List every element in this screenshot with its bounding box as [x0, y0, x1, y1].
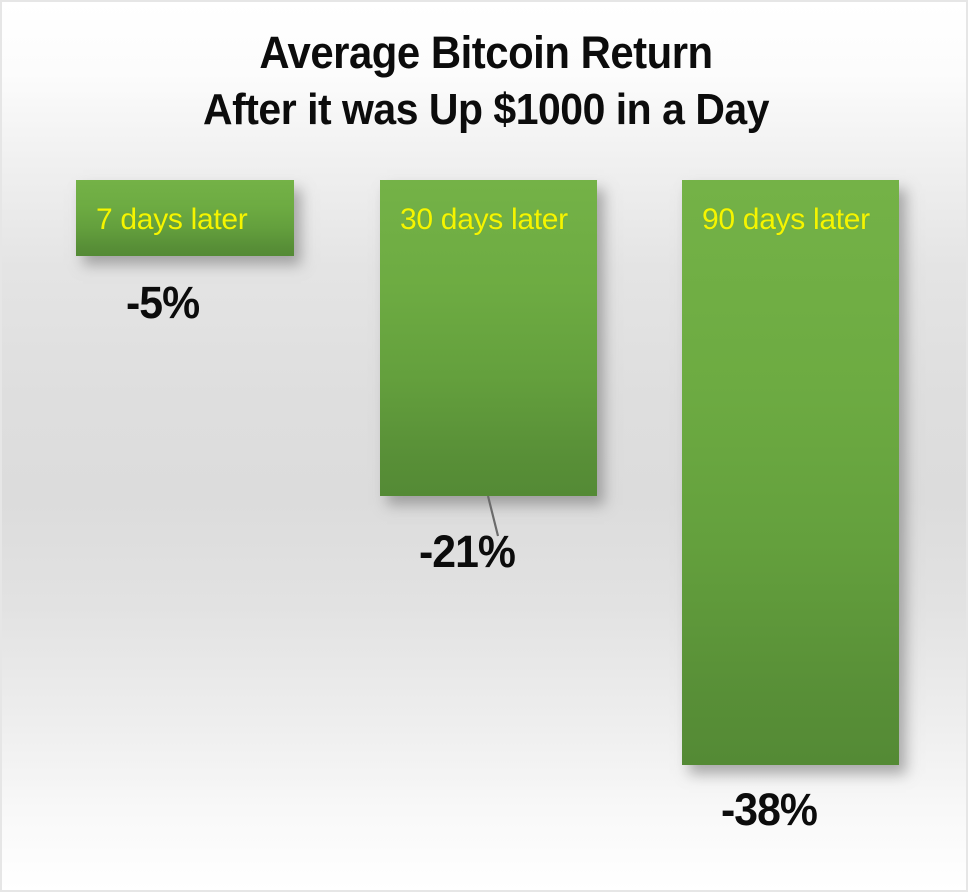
bar-90-days[interactable]: 90 days later — [682, 180, 899, 765]
chart-title-line-2: After it was Up $1000 in a Day — [36, 81, 936, 138]
bar-value-30-days: -21% — [419, 529, 515, 575]
bar-group-30-days: 30 days later — [380, 180, 597, 496]
bar-7-days[interactable]: 7 days later — [76, 180, 294, 256]
bar-value-90-days: -38% — [721, 787, 817, 833]
bar-group-90-days: 90 days later — [682, 180, 899, 765]
bar-label-30-days: 30 days later — [400, 204, 568, 236]
bar-30-days[interactable]: 30 days later — [380, 180, 597, 496]
bar-value-7-days: -5% — [126, 280, 199, 326]
bar-label-90-days: 90 days later — [702, 204, 870, 236]
chart-title: Average Bitcoin Return After it was Up $… — [2, 24, 968, 138]
bar-label-7-days: 7 days later — [96, 204, 247, 236]
chart-canvas: Average Bitcoin Return After it was Up $… — [0, 0, 968, 892]
chart-title-line-1: Average Bitcoin Return — [36, 24, 936, 81]
bar-group-7-days: 7 days later — [76, 180, 294, 256]
